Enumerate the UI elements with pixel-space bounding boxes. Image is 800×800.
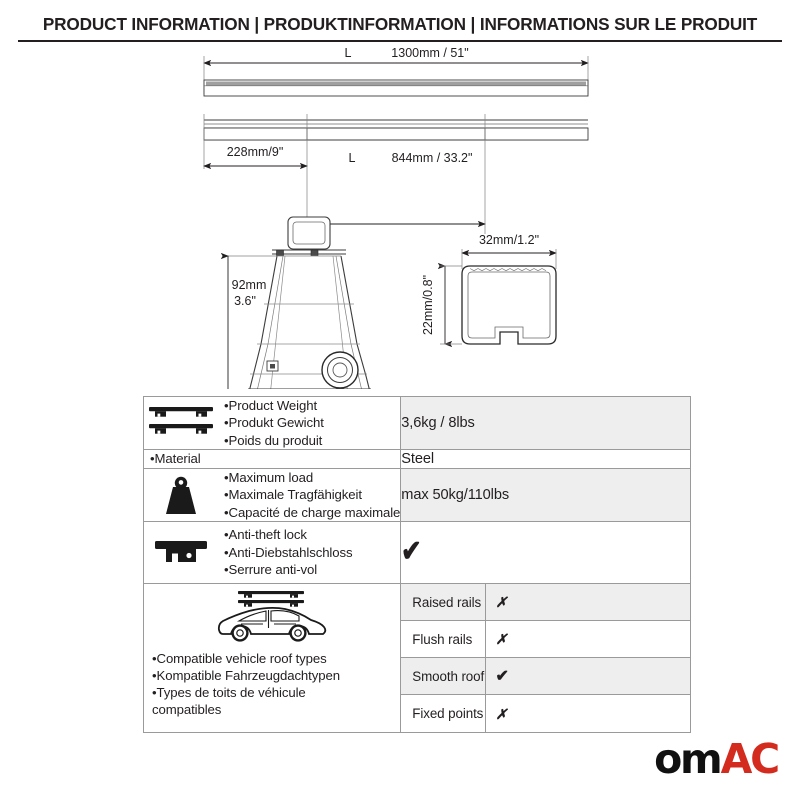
roof-type-name: Smooth roof <box>401 658 485 695</box>
material-label-cell: •Material <box>144 450 401 468</box>
svg-text:228mm/9": 228mm/9" <box>227 145 284 159</box>
roof-rack-bars-icon <box>144 405 218 441</box>
material-labels: •Material <box>144 450 201 467</box>
cross-icon: ✗ <box>496 594 508 610</box>
label-fr: •Types de toits de véhicule <box>152 684 394 701</box>
label-fr: •Capacité de charge maximale <box>224 504 400 521</box>
label-en: •Product Weight <box>224 397 324 414</box>
page-header: PRODUCT INFORMATION | PRODUKTINFORMATION… <box>0 14 800 35</box>
label-en: •Material <box>150 450 201 467</box>
table-row: •Anti-theft lock •Anti-Diebstahlschloss … <box>144 521 691 583</box>
roof-type-name: Flush rails <box>401 621 485 658</box>
anti-theft-value-cell: ✔ <box>401 521 691 583</box>
roof-type-name: Raised rails <box>401 584 485 621</box>
specification-table: •Product Weight •Produkt Gewicht •Poids … <box>143 396 691 733</box>
logo-text-om: om <box>654 735 721 783</box>
technical-drawing: L 1300mm / 51" <box>0 44 800 389</box>
lock-icon <box>144 537 218 567</box>
label-en: •Anti-theft lock <box>224 526 352 543</box>
svg-text:L: L <box>345 46 352 60</box>
label-fr: •Poids du produit <box>224 432 324 449</box>
svg-text:1300mm / 51": 1300mm / 51" <box>391 46 468 60</box>
product-weight-labels: •Product Weight •Produkt Gewicht •Poids … <box>224 397 324 449</box>
weight-icon <box>144 474 218 516</box>
roof-types-cell: Raised rails ✗ Flush rails ✗ <box>401 583 691 732</box>
page-title: PRODUCT INFORMATION | PRODUKTINFORMATION… <box>0 14 800 35</box>
anti-theft-check-mark: ✔ <box>401 537 422 567</box>
product-weight-value: 3,6kg / 8lbs <box>401 397 691 450</box>
omac-logo: omAC <box>654 739 778 780</box>
car-with-rack-icon <box>144 584 400 650</box>
cross-icon: ✗ <box>496 631 508 647</box>
max-load-labels: •Maximum load •Maximale Tragfähigkeit •C… <box>224 469 400 521</box>
svg-text:22mm/0.8": 22mm/0.8" <box>421 275 435 335</box>
roof-type-row-fixed-points: Fixed points ✗ <box>401 695 690 732</box>
roof-type-mark: ✗ <box>485 695 690 732</box>
max-load-value: max 50kg/110lbs <box>401 468 691 521</box>
roof-type-name: Fixed points <box>401 695 485 732</box>
compatibility-label-cell: •Compatible vehicle roof types •Kompatib… <box>144 583 401 732</box>
roof-types-table: Raised rails ✗ Flush rails ✗ <box>401 584 690 732</box>
roof-type-row-smooth-roof: Smooth roof ✔ <box>401 658 690 695</box>
label-en: •Maximum load <box>224 469 400 486</box>
material-value: Steel <box>401 450 691 468</box>
label-de: •Kompatible Fahrzeugdachtypen <box>152 667 394 684</box>
label-de: •Anti-Diebstahlschloss <box>224 544 352 561</box>
label-fr: •Serrure anti-vol <box>224 561 352 578</box>
table-row: •Product Weight •Produkt Gewicht •Poids … <box>144 397 691 450</box>
roof-type-mark: ✗ <box>485 621 690 658</box>
table-row: •Material Steel <box>144 450 691 468</box>
label-en: •Compatible vehicle roof types <box>152 650 394 667</box>
svg-text:32mm/1.2": 32mm/1.2" <box>479 233 539 247</box>
roof-type-mark: ✔ <box>485 658 690 695</box>
product-information-page: PRODUCT INFORMATION | PRODUKTINFORMATION… <box>0 0 800 800</box>
anti-theft-label-cell: •Anti-theft lock •Anti-Diebstahlschloss … <box>144 521 401 583</box>
max-load-label-cell: •Maximum load •Maximale Tragfähigkeit •C… <box>144 468 401 521</box>
svg-text:L: L <box>349 151 356 165</box>
table-row: •Compatible vehicle roof types •Kompatib… <box>144 583 691 732</box>
cross-icon: ✗ <box>496 706 508 722</box>
svg-text:92mm: 92mm <box>232 278 267 292</box>
label-de: •Maximale Tragfähigkeit <box>224 486 400 503</box>
label-fr-cont: compatibles <box>152 701 394 718</box>
compatibility-labels: •Compatible vehicle roof types •Kompatib… <box>144 650 400 719</box>
svg-text:844mm / 33.2": 844mm / 33.2" <box>392 151 473 165</box>
table-row: •Maximum load •Maximale Tragfähigkeit •C… <box>144 468 691 521</box>
roof-type-mark: ✗ <box>485 584 690 621</box>
svg-text:3.6": 3.6" <box>234 294 256 308</box>
roof-type-row-raised-rails: Raised rails ✗ <box>401 584 690 621</box>
roof-type-row-flush-rails: Flush rails ✗ <box>401 621 690 658</box>
product-weight-label-cell: •Product Weight •Produkt Gewicht •Poids … <box>144 397 401 450</box>
header-divider <box>18 40 782 42</box>
anti-theft-labels: •Anti-theft lock •Anti-Diebstahlschloss … <box>224 526 352 578</box>
label-de: •Produkt Gewicht <box>224 414 324 431</box>
check-icon: ✔ <box>496 668 509 685</box>
logo-text-ac: AC <box>721 735 778 783</box>
